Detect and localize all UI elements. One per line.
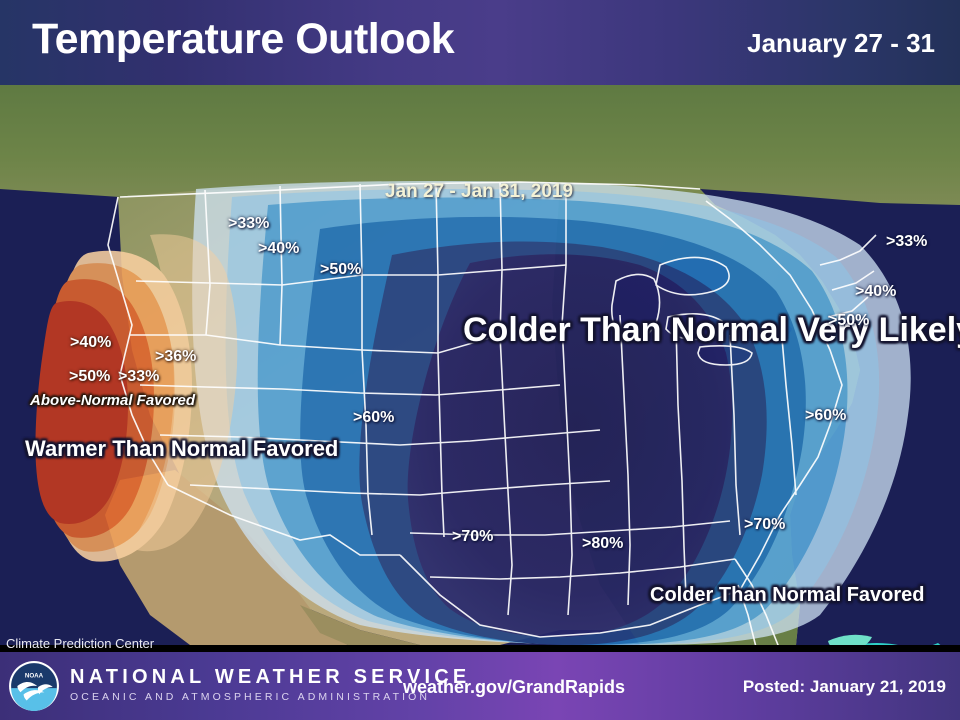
contour-label-cen-60: >60% bbox=[353, 409, 394, 427]
website-link[interactable]: weather.gov/GrandRapids bbox=[403, 677, 625, 698]
annotation-colder-than-normal-very-likely: Colder Than Normal Very Likely bbox=[463, 308, 723, 353]
header-bar: Temperature Outlook January 27 - 31 bbox=[0, 0, 960, 85]
annotation-above-normal-favored: Above-Normal Favored bbox=[30, 392, 195, 409]
page-title: Temperature Outlook bbox=[32, 15, 454, 64]
temperature-outlook-graphic: Temperature Outlook January 27 - 31 bbox=[0, 0, 960, 720]
contour-label-ca-40: >40% bbox=[70, 334, 111, 352]
contour-label-ne-33: >33% bbox=[886, 233, 927, 251]
below-normal-probability-shading bbox=[192, 181, 911, 645]
contour-label-tx-70: >70% bbox=[452, 528, 493, 546]
contour-label-ne-50: >50% bbox=[828, 312, 869, 330]
header-date-range: January 27 - 31 bbox=[747, 28, 935, 59]
map-valid-date: Jan 27 - Jan 31, 2019 bbox=[385, 181, 573, 203]
posted-date: Posted: January 21, 2019 bbox=[743, 677, 946, 697]
annotation-colder-than-normal-favored: Colder Than Normal Favored bbox=[650, 580, 900, 610]
footer-bar: NOAA NATIONAL WEATHER SERVICE OCEANIC AN… bbox=[0, 652, 960, 720]
noaa-logo-icon: NOAA bbox=[8, 660, 60, 712]
contour-label-nw-50: >50% bbox=[320, 261, 361, 279]
annotation-warmer-than-normal-favored: Warmer Than Normal Favored bbox=[25, 433, 185, 465]
contour-label-nw-40: >40% bbox=[258, 240, 299, 258]
contour-label-ne-40: >40% bbox=[855, 283, 896, 301]
contour-label-nw-33: >33% bbox=[228, 215, 269, 233]
climate-prediction-center-credit: Climate Prediction Center bbox=[6, 636, 154, 651]
contour-label-gb-33: >33% bbox=[118, 368, 159, 386]
noaa-logo-text: NOAA bbox=[25, 673, 44, 680]
contour-label-ms-80: >80% bbox=[582, 535, 623, 553]
contour-label-se-70: >70% bbox=[744, 516, 785, 534]
contour-label-gb-36: >36% bbox=[155, 348, 196, 366]
outlook-map: Jan 27 - Jan 31, 2019 Colder Than Normal… bbox=[0, 85, 960, 645]
contour-label-ca-50: >50% bbox=[69, 368, 110, 386]
contour-label-mid-60: >60% bbox=[805, 407, 846, 425]
map-graphic bbox=[0, 85, 960, 645]
